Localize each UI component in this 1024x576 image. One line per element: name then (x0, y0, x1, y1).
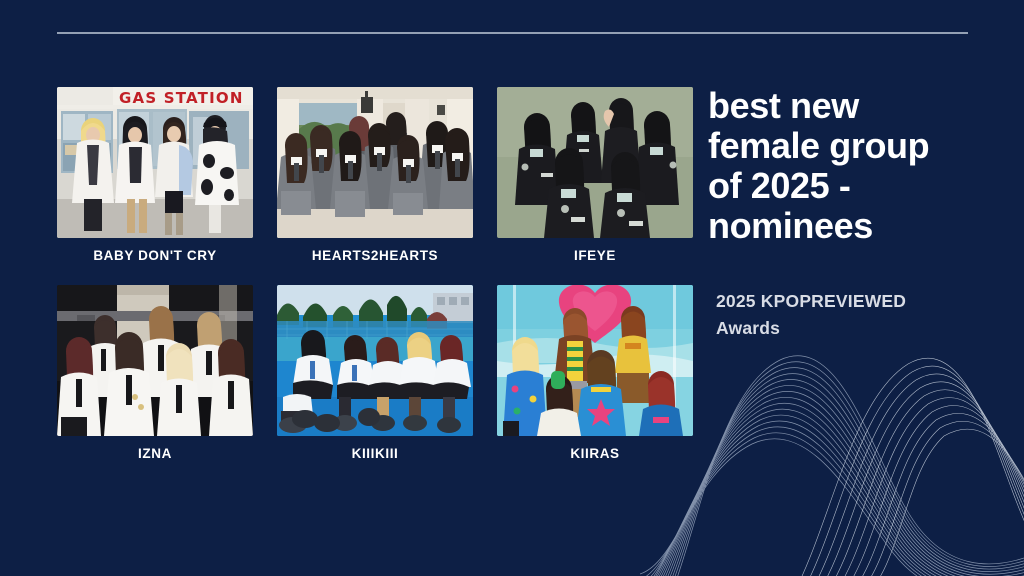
title-line-1: best new (708, 86, 1008, 126)
wave-mesh-decoration (640, 330, 1024, 576)
photo-kiiras (497, 285, 693, 436)
nominee-card[interactable]: HEARTS2HEARTS (277, 87, 473, 263)
photo-hearts2hearts (277, 87, 473, 238)
nominee-card[interactable]: IFEYE (497, 87, 693, 263)
nominee-label: KIIRAS (497, 447, 693, 461)
nominee-grid: GAS STATION (57, 87, 686, 460)
svg-text:GAS STATION: GAS STATION (119, 89, 244, 107)
nominee-label: HEARTS2HEARTS (277, 249, 473, 263)
title-line-4: nominees (708, 206, 1008, 246)
subtitle-line-1: 2025 KPOPREVIEWED (716, 288, 996, 315)
nominee-card[interactable]: KIIIKIII (277, 285, 473, 461)
title-line-3: of 2025 - (708, 166, 1008, 206)
photo-kiiikiii (277, 285, 473, 436)
nominee-label: IZNA (57, 447, 253, 461)
nominee-card[interactable]: GAS STATION (57, 87, 253, 263)
top-divider (57, 32, 968, 34)
photo-izna (57, 285, 253, 436)
nominee-label: BABY DON'T CRY (57, 249, 253, 263)
photo-ifeye (497, 87, 693, 238)
slide-canvas: GAS STATION (0, 0, 1024, 576)
nominee-card[interactable]: IZNA (57, 285, 253, 461)
title-line-2: female group (708, 126, 1008, 166)
nominee-label: IFEYE (497, 249, 693, 263)
nominee-card[interactable]: KIIRAS (497, 285, 693, 461)
page-title: best new female group of 2025 - nominees (708, 86, 1008, 246)
photo-baby-dont-cry: GAS STATION (57, 87, 253, 238)
nominee-label: KIIIKIII (277, 447, 473, 461)
subtitle-line-2: Awards (716, 315, 996, 342)
awards-subtitle: 2025 KPOPREVIEWED Awards (716, 288, 996, 342)
